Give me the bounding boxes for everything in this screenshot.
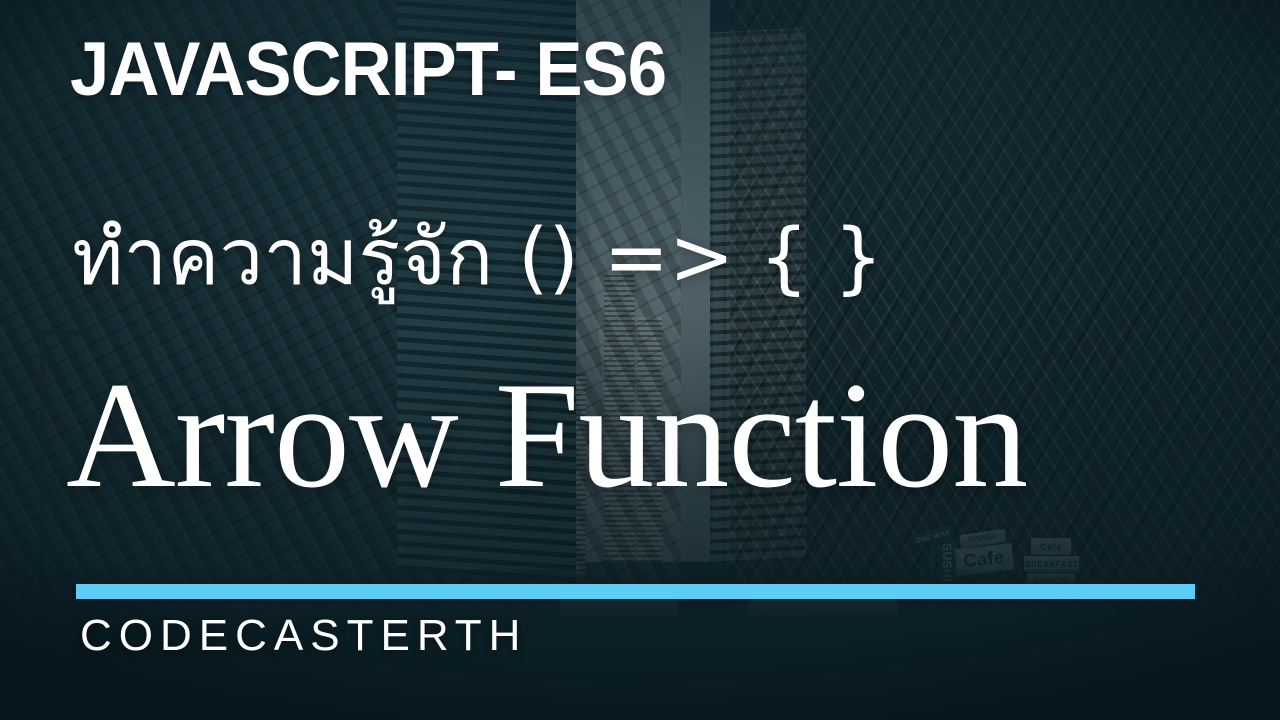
accent-rule — [76, 584, 1195, 599]
thai-subtitle: ทำความรู้จัก () => { } — [72, 218, 883, 300]
brand-name: CODECASTERTH — [80, 614, 527, 658]
video-thumbnail: Cafe BREAKFAST LUNCH Cafe SUSHI ONE WAY … — [0, 0, 1280, 720]
text-overlay: JAVASCRIPT- ES6 ทำความรู้จัก () => { } A… — [0, 0, 1280, 720]
kicker-title: JAVASCRIPT- ES6 — [70, 32, 666, 108]
main-headline: Arrow Function — [66, 359, 1027, 511]
